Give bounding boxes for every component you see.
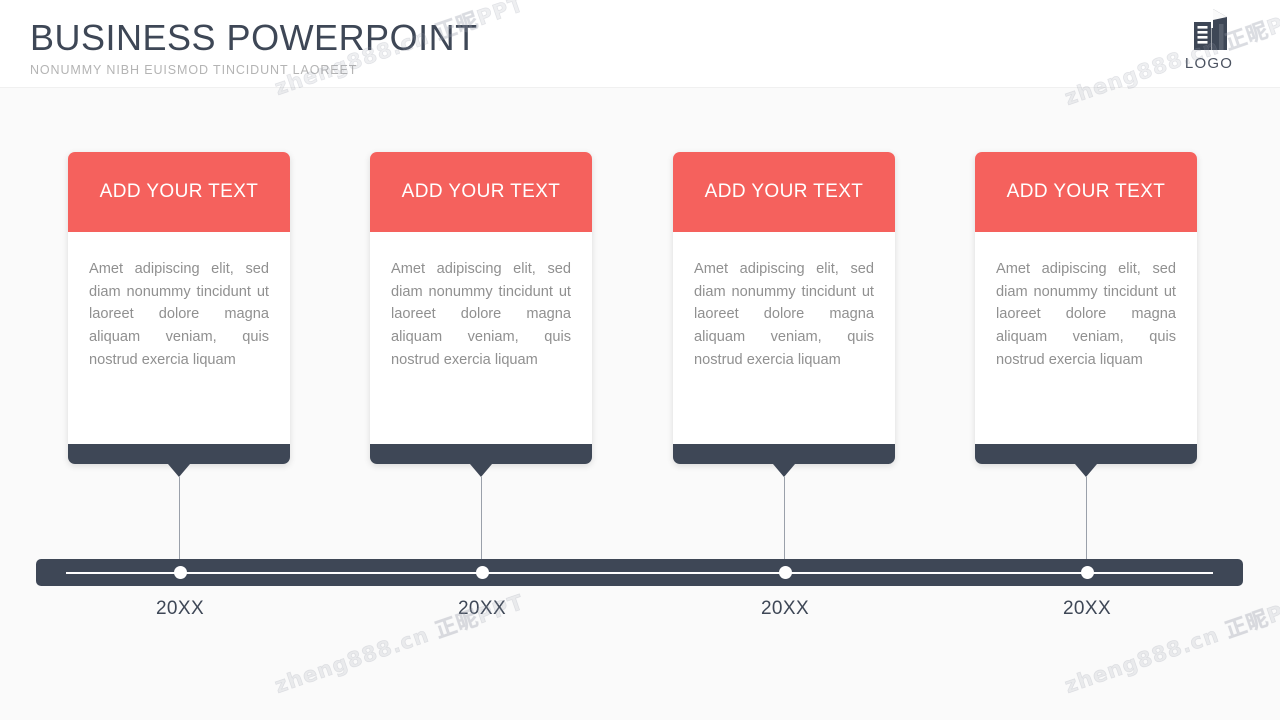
card-footer: [370, 444, 592, 464]
timeline-year: 20XX: [1007, 598, 1167, 620]
timeline-year: 20XX: [402, 598, 562, 620]
timeline-card[interactable]: ADD YOUR TEXT Amet adipiscing elit, sed …: [975, 152, 1197, 464]
page-subtitle: NONUMMY NIBH EUISMOD TINCIDUNT LAOREET: [30, 62, 478, 78]
timeline-dot[interactable]: [174, 566, 187, 579]
card-body: Amet adipiscing elit, sed diam nonummy t…: [370, 232, 592, 444]
card-heading: ADD YOUR TEXT: [100, 181, 259, 203]
card-header: ADD YOUR TEXT: [370, 152, 592, 232]
timeline-dot[interactable]: [779, 566, 792, 579]
card-body: Amet adipiscing elit, sed diam nonummy t…: [975, 232, 1197, 444]
card-footer: [673, 444, 895, 464]
timeline-dot[interactable]: [1081, 566, 1094, 579]
building-icon: [1186, 6, 1232, 54]
timeline-year: 20XX: [705, 598, 865, 620]
card-header: ADD YOUR TEXT: [68, 152, 290, 232]
timeline-rule: [66, 572, 1213, 574]
timeline-year: 20XX: [100, 598, 260, 620]
timeline-dot[interactable]: [476, 566, 489, 579]
slide-header: BUSINESS POWERPOINT NONUMMY NIBH EUISMOD…: [0, 0, 1280, 88]
cards-layer: ADD YOUR TEXT Amet adipiscing elit, sed …: [0, 0, 1280, 720]
card-pointer-icon: [470, 464, 492, 477]
card-footer: [68, 444, 290, 464]
card-pointer-icon: [1075, 464, 1097, 477]
card-text: Amet adipiscing elit, sed diam nonummy t…: [694, 258, 874, 372]
card-pointer-icon: [168, 464, 190, 477]
timeline-card[interactable]: ADD YOUR TEXT Amet adipiscing elit, sed …: [673, 152, 895, 464]
card-text: Amet adipiscing elit, sed diam nonummy t…: [391, 258, 571, 372]
card-body: Amet adipiscing elit, sed diam nonummy t…: [673, 232, 895, 444]
card-header: ADD YOUR TEXT: [975, 152, 1197, 232]
title-block: BUSINESS POWERPOINT NONUMMY NIBH EUISMOD…: [30, 16, 478, 78]
page-title: BUSINESS POWERPOINT: [30, 16, 478, 60]
timeline-bar: [36, 559, 1243, 586]
card-heading: ADD YOUR TEXT: [402, 181, 561, 203]
timeline-card[interactable]: ADD YOUR TEXT Amet adipiscing elit, sed …: [68, 152, 290, 464]
card-text: Amet adipiscing elit, sed diam nonummy t…: [89, 258, 269, 372]
card-heading: ADD YOUR TEXT: [1007, 181, 1166, 203]
card-heading: ADD YOUR TEXT: [705, 181, 864, 203]
card-pointer-icon: [773, 464, 795, 477]
logo-text: LOGO: [1164, 55, 1254, 72]
card-body: Amet adipiscing elit, sed diam nonummy t…: [68, 232, 290, 444]
card-footer: [975, 444, 1197, 464]
timeline-card[interactable]: ADD YOUR TEXT Amet adipiscing elit, sed …: [370, 152, 592, 464]
logo-block: LOGO: [1164, 6, 1254, 72]
card-header: ADD YOUR TEXT: [673, 152, 895, 232]
card-text: Amet adipiscing elit, sed diam nonummy t…: [996, 258, 1176, 372]
